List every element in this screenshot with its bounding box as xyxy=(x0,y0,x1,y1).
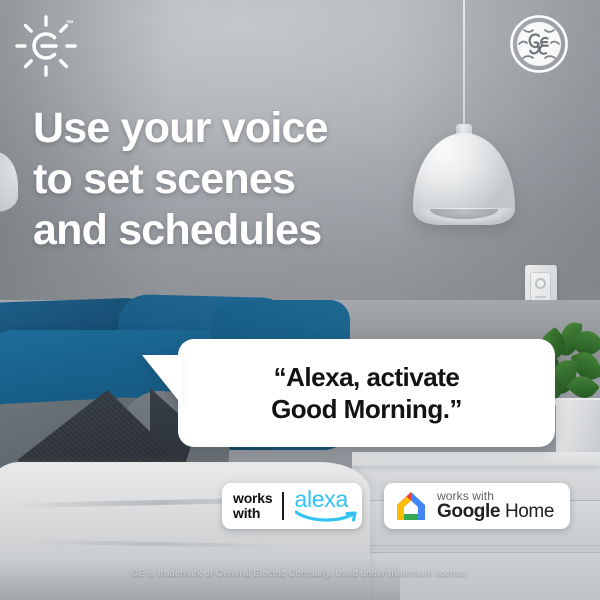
ad-canvas: ™ Use your voice to s xyxy=(0,0,600,600)
pendant-lamp-cord xyxy=(463,0,465,128)
c-by-ge-sun-logo: ™ xyxy=(14,14,78,78)
legal-footer: GE is trademark of General Electric Comp… xyxy=(0,568,600,579)
works-with-label: works with xyxy=(233,491,272,521)
ge-monogram-logo xyxy=(509,14,569,74)
trademark-symbol: ™ xyxy=(66,19,74,28)
duvet-shadow xyxy=(0,560,400,600)
headline-line-3: and schedules xyxy=(33,205,328,256)
speech-bubble-line-2: Good Morning.” xyxy=(271,393,462,426)
google-home-house-icon xyxy=(394,490,428,522)
works-with-line-1: works xyxy=(233,491,272,506)
speech-bubble-tail xyxy=(142,355,182,405)
works-with-line-2: with xyxy=(233,506,272,521)
speech-bubble-line-1: “Alexa, activate xyxy=(274,361,460,394)
works-with-google-home-badge[interactable]: works with Google Home xyxy=(384,483,570,529)
amazon-smile-arrow-icon xyxy=(295,508,365,524)
headline-line-1: Use your voice xyxy=(33,103,328,154)
google-brand-text: Google xyxy=(437,501,500,522)
badge-divider xyxy=(282,492,284,520)
works-with-alexa-badge[interactable]: works with alexa xyxy=(222,483,362,529)
nightstand-top-surface xyxy=(352,452,600,466)
alexa-wordmark: alexa xyxy=(294,489,351,523)
google-home-label: works with Google Home xyxy=(437,490,554,523)
page-title: Use your voice to set scenes and schedul… xyxy=(33,103,328,256)
wall-switch-power-icon xyxy=(535,278,546,289)
speech-bubble: “Alexa, activate Good Morning.” xyxy=(178,339,555,447)
wall-switch-dimmer-bar xyxy=(535,296,546,298)
home-product-text: Home xyxy=(505,501,554,522)
headline-line-2: to set scenes xyxy=(33,154,328,205)
google-home-wordmark: Google Home xyxy=(437,502,554,522)
